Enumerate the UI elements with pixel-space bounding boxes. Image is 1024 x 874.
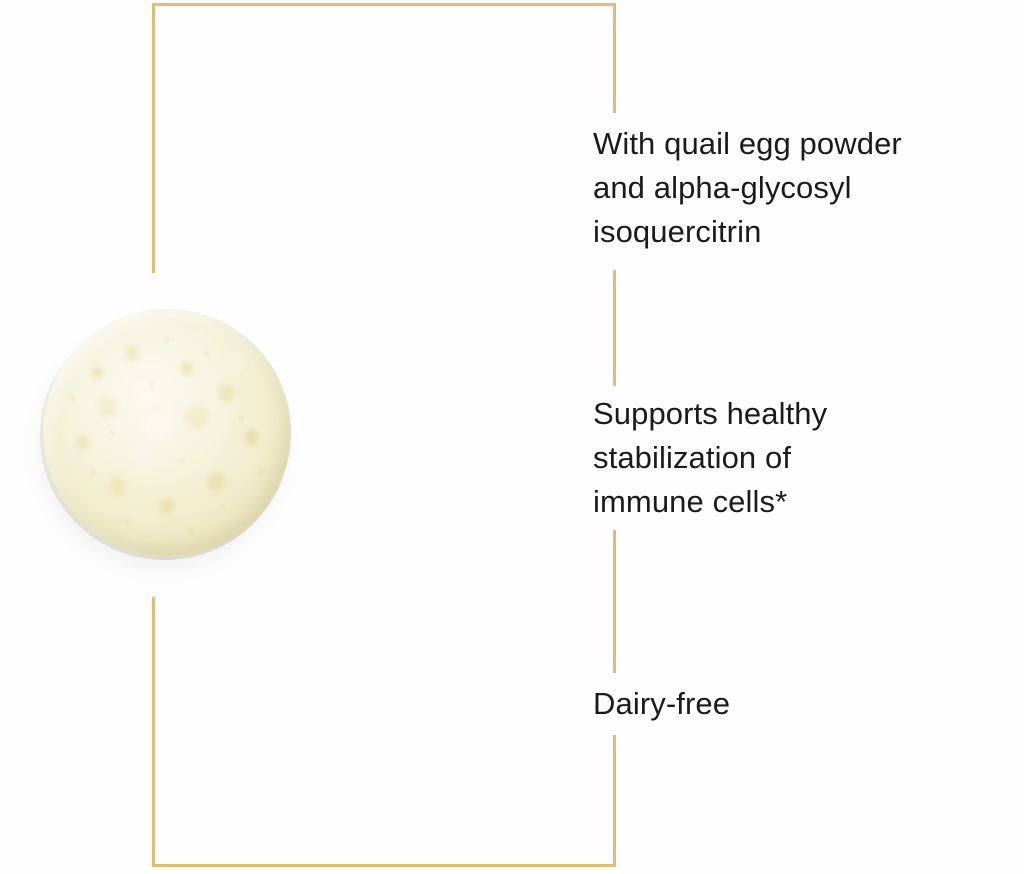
infographic-canvas: With quail egg powder and alpha-glycosyl…	[0, 0, 1024, 874]
frame-right-rule-segment-4	[613, 735, 616, 867]
frame-bottom-rule	[152, 864, 616, 867]
tablet-face	[43, 309, 291, 556]
benefit-text-dairy-free: Dairy-free	[593, 682, 1024, 726]
frame-left-rule-upper	[152, 3, 155, 273]
frame-right-rule-segment-1	[613, 3, 616, 113]
tablet-texture-specks	[43, 309, 291, 556]
frame-left-rule-lower	[152, 597, 155, 867]
tablet-product-image	[30, 300, 320, 590]
frame-right-rule-segment-2	[613, 270, 616, 386]
frame-top-rule	[152, 3, 616, 6]
benefit-text-quail-egg-powder: With quail egg powder and alpha-glycosyl…	[593, 122, 1024, 254]
frame-right-rule-segment-3	[613, 530, 616, 673]
benefit-text-immune-cell-stabilization: Supports healthy stabilization of immune…	[593, 392, 1024, 524]
